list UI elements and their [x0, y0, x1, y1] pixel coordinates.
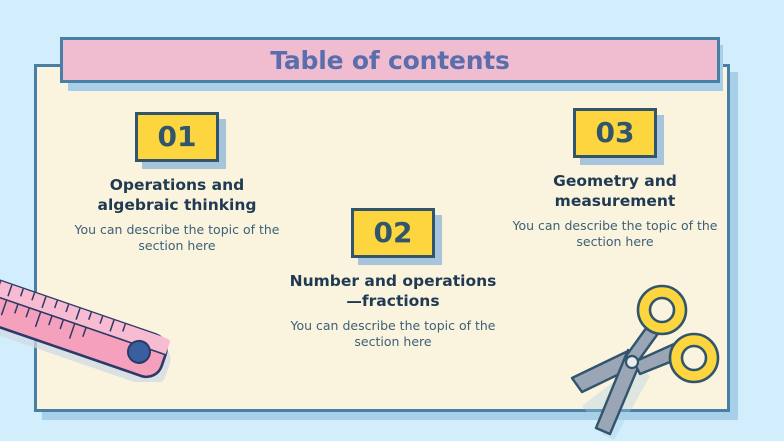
number-badge-box: 01 [135, 112, 219, 162]
section-number-badge-02: 02 [351, 208, 435, 258]
toc-section-03[interactable]: 03 Geometry and measurement You can desc… [500, 108, 730, 251]
number-badge-box: 02 [351, 208, 435, 258]
section-heading-01: Operations and algebraic thinking [62, 176, 292, 216]
section-number-badge-03: 03 [573, 108, 657, 158]
page-title: Table of contents [270, 46, 510, 75]
section-number-badge-01: 01 [135, 112, 219, 162]
section-number-03: 03 [596, 119, 635, 147]
toc-section-02[interactable]: 02 Number and operations—fractions You c… [278, 208, 508, 351]
section-heading-02: Number and operations—fractions [278, 272, 508, 312]
section-description-03: You can describe the topic of the sectio… [500, 218, 730, 251]
section-heading-03: Geometry and measurement [500, 172, 730, 212]
section-description-01: You can describe the topic of the sectio… [62, 222, 292, 255]
section-number-02: 02 [374, 219, 413, 247]
section-number-01: 01 [158, 123, 197, 151]
slide-canvas: Table of contents 01 Operations and alge… [0, 0, 784, 441]
section-description-02: You can describe the topic of the sectio… [278, 318, 508, 351]
title-bar: Table of contents [60, 37, 720, 83]
number-badge-box: 03 [573, 108, 657, 158]
toc-section-01[interactable]: 01 Operations and algebraic thinking You… [62, 112, 292, 255]
